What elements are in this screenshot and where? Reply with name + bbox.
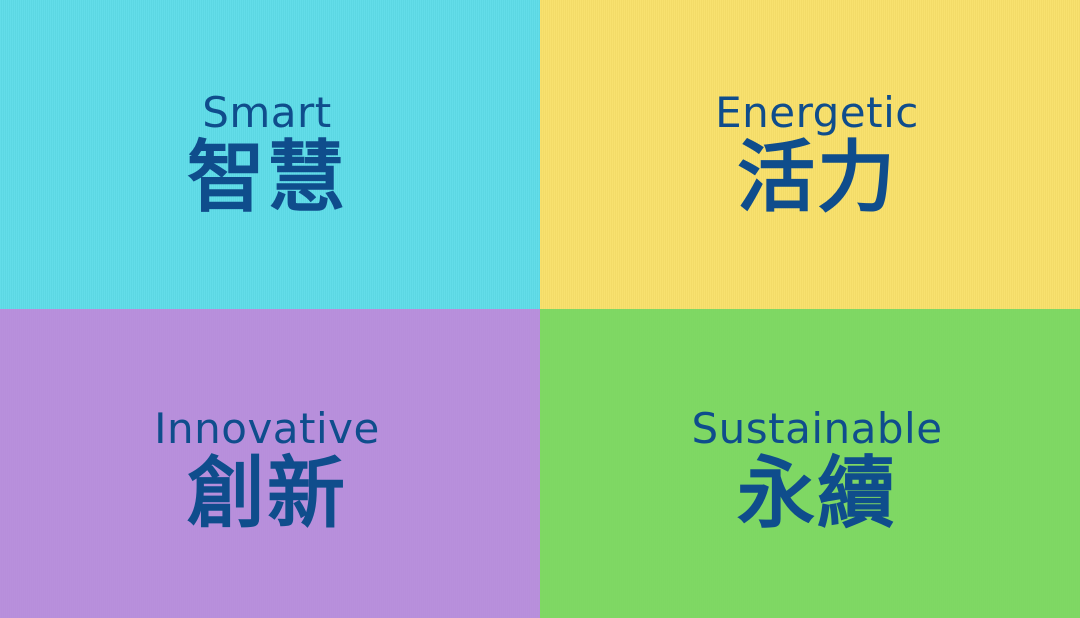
quadrant-energetic-text: Energetic 活力 — [715, 92, 919, 220]
quadrant-smart-text: Smart 智慧 — [187, 92, 347, 220]
quadrant-sustainable: Sustainable 永續 — [540, 309, 1080, 618]
quadrant-innovative-label-en: Innovative — [154, 408, 380, 450]
quadrant-energetic-label-en: Energetic — [715, 92, 919, 134]
quadrant-smart-label-en: Smart — [187, 92, 347, 134]
quadrant-smart-label-cjk: 智慧 — [187, 138, 347, 220]
quadrant-smart: Smart 智慧 — [0, 0, 540, 309]
quadrant-sustainable-label-cjk: 永續 — [691, 454, 942, 536]
quadrant-sustainable-text: Sustainable 永續 — [691, 408, 942, 536]
quadrant-innovative-label-cjk: 創新 — [154, 454, 380, 536]
quadrant-sustainable-label-en: Sustainable — [691, 408, 942, 450]
quadrant-innovative-text: Innovative 創新 — [154, 408, 380, 536]
quadrant-energetic: Energetic 活力 — [540, 0, 1080, 309]
brand-values-poster: Smart 智慧 Energetic 活力 Innovative 創新 Sust… — [0, 0, 1080, 618]
quadrant-innovative: Innovative 創新 — [0, 309, 540, 618]
quadrant-energetic-label-cjk: 活力 — [715, 138, 919, 220]
